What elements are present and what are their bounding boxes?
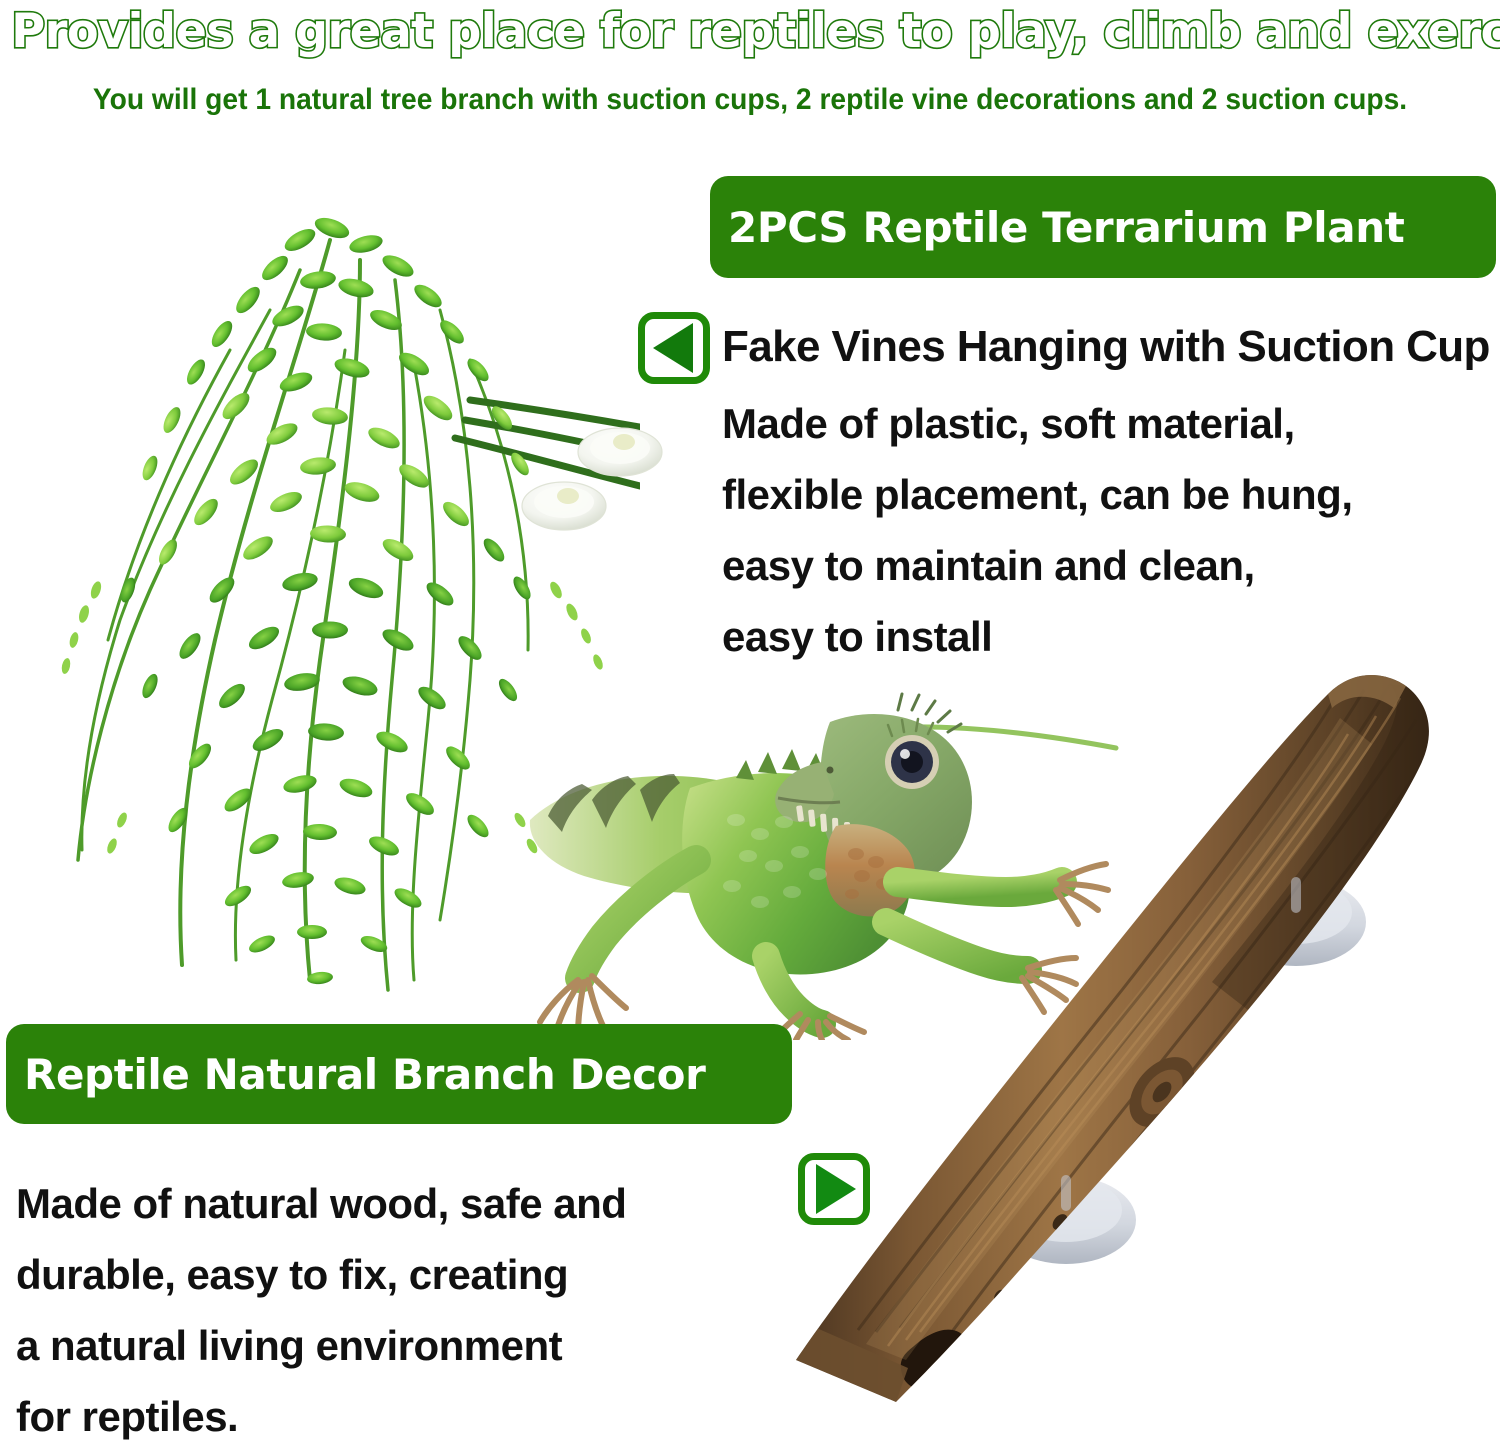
suction-cups-photo	[520, 418, 680, 548]
plant-description: Made of plastic, soft material, flexible…	[722, 388, 1482, 672]
page-title: Provides a great place for reptiles to p…	[11, 4, 1489, 60]
banner-plant: 2PCS Reptile Terrarium Plant	[710, 176, 1496, 278]
plant-heading: Fake Vines Hanging with Suction Cup	[722, 318, 1490, 376]
banner-plant-label: 2PCS Reptile Terrarium Plant	[728, 203, 1404, 252]
plant-description-line: Made of plastic, soft material,	[722, 388, 1482, 459]
branch-description-line: Made of natural wood, safe and	[16, 1168, 746, 1239]
branch-photo	[700, 660, 1500, 1452]
triangle-left-glyph	[653, 323, 693, 373]
branch-description-line: for reptiles.	[16, 1381, 746, 1452]
plant-description-line: flexible placement, can be hung,	[722, 459, 1482, 530]
plant-description-line: easy to maintain and clean,	[722, 530, 1482, 601]
page-subtitle: You will get 1 natural tree branch with …	[45, 82, 1455, 118]
banner-branch: Reptile Natural Branch Decor	[6, 1024, 792, 1124]
branch-description: Made of natural wood, safe and durable, …	[16, 1168, 746, 1452]
triangle-right-icon	[798, 1153, 870, 1225]
branch-description-line: durable, easy to fix, creating	[16, 1239, 746, 1310]
plant-description-line: easy to install	[722, 601, 1482, 672]
triangle-left-icon	[638, 312, 710, 384]
banner-branch-label: Reptile Natural Branch Decor	[24, 1050, 705, 1099]
triangle-right-glyph	[816, 1164, 856, 1214]
branch-description-line: a natural living environment	[16, 1310, 746, 1381]
